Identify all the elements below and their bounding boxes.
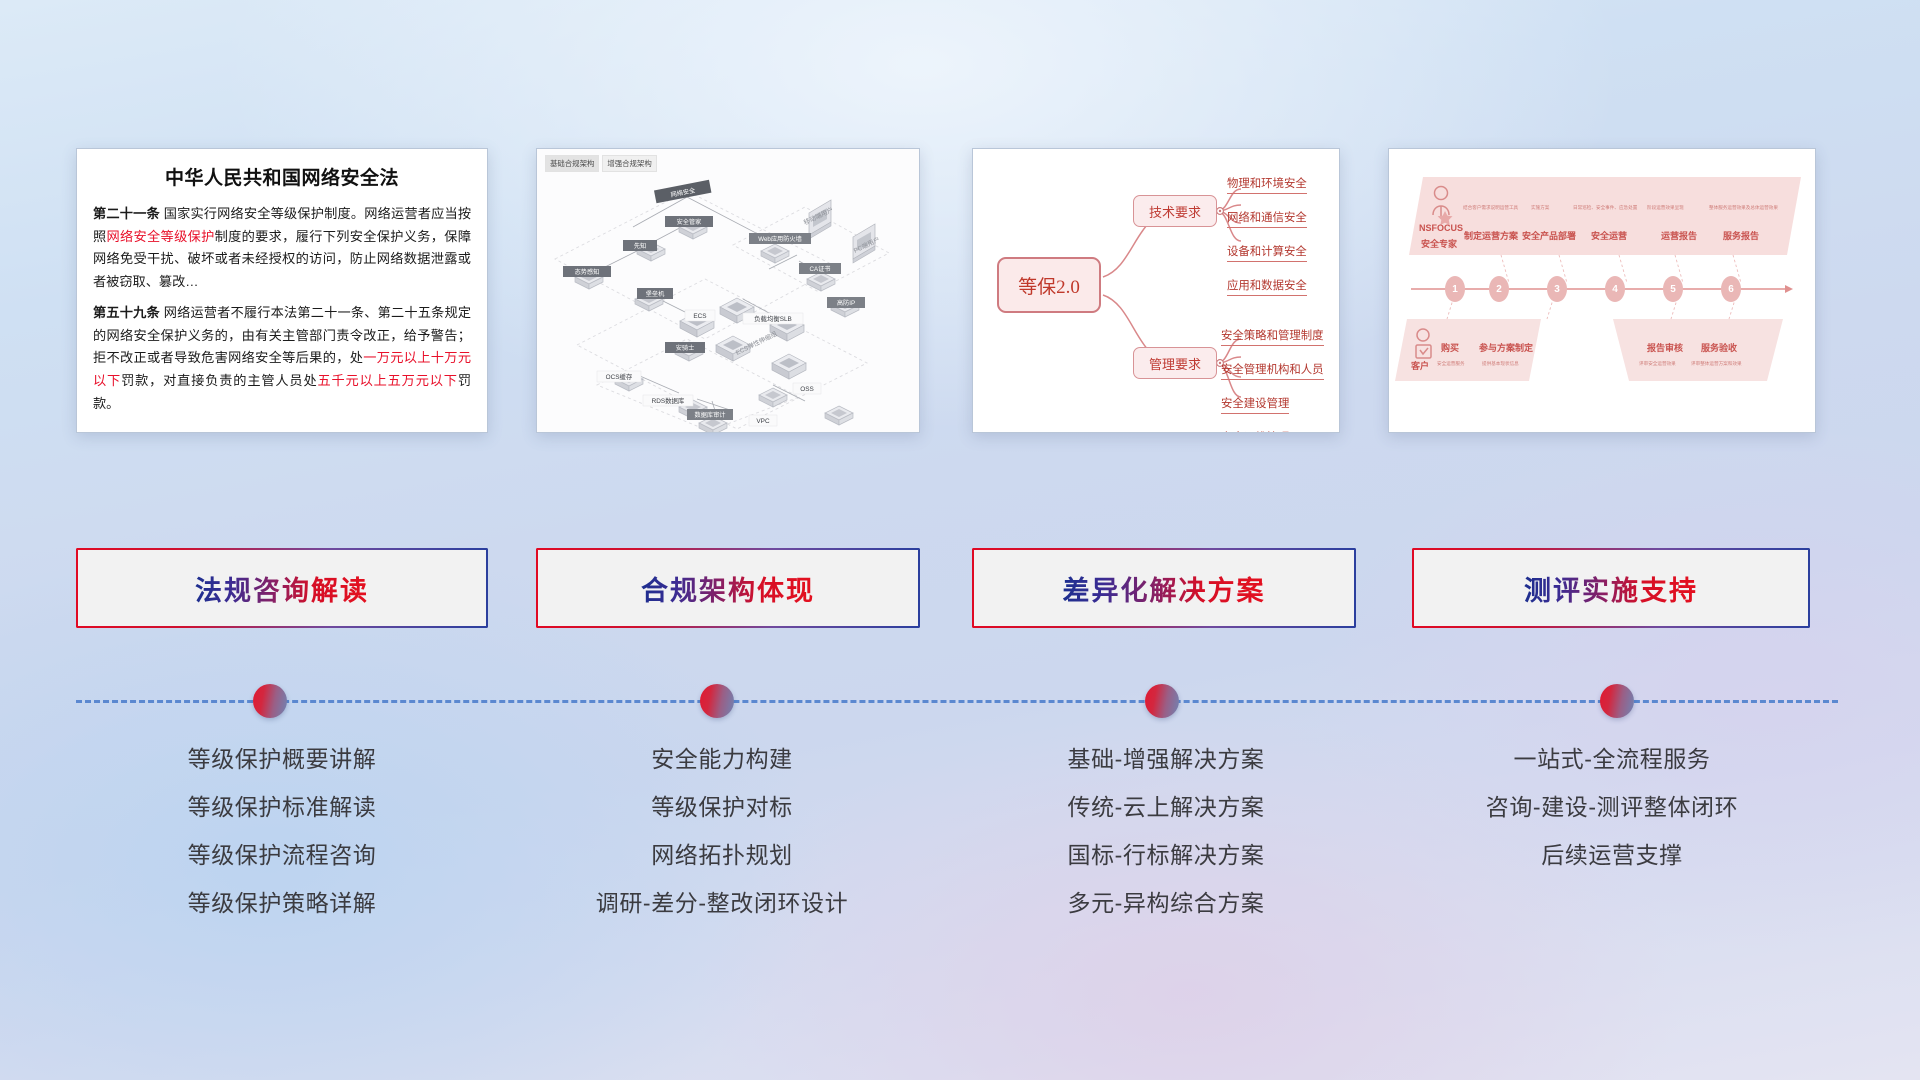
timeline-node-3[interactable]: 3 (1547, 276, 1567, 302)
mindmap-leaf-tech-0[interactable]: 物理和环境安全 (1227, 175, 1307, 194)
service-timeline: NSFOCUS 安全专家 制定运营方案 结合客户需求说明运营工具 安全产品部署 … (1389, 149, 1815, 432)
headline-label-1: 合规架构体现 (641, 569, 815, 608)
top-step-4-title[interactable]: 服务报告 (1723, 229, 1759, 242)
svg-text:数据库审计: 数据库审计 (695, 411, 726, 419)
headline-box-compliance-architecture[interactable]: 合规架构体现 (536, 548, 920, 628)
law-article-21: 第二十一条 国家实行网络安全等级保护制度。网络运营者应当按照网络安全等级保护制度… (93, 203, 471, 294)
card-cybersecurity-law[interactable]: 中华人民共和国网络安全法 第二十一条 国家实行网络安全等级保护制度。网络运营者应… (76, 148, 488, 433)
article-21-highlight: 网络安全等级保护 (107, 229, 215, 244)
top-step-2-sub: 日常巡检、安全事件、应急处置 (1573, 205, 1637, 211)
list-item: 等级保护标准解读 (76, 784, 488, 832)
timeline-node-5[interactable]: 5 (1663, 276, 1683, 302)
headline-box-assessment-support[interactable]: 测评实施支持 (1412, 548, 1810, 628)
bottom-step-0-sub: 安全运营服务 (1437, 361, 1465, 367)
timeline-marker-1[interactable] (253, 684, 287, 718)
timeline-node-6[interactable]: 6 (1721, 276, 1741, 302)
architecture-canvas: 网络安全 先知 态势感知 安全管家 堡垒机 安骑士 Web应用防火墙 (537, 149, 920, 433)
list-item: 咨询-建设-测评整体闭环 (1412, 784, 1812, 832)
timeline-marker-3[interactable] (1145, 684, 1179, 718)
article-21-label: 第二十一条 (93, 206, 160, 221)
svg-text:堡垒机: 堡垒机 (646, 290, 665, 298)
mindmap-branch-technical[interactable]: 技术要求 (1133, 195, 1217, 227)
card-compliance-architecture[interactable]: 基础合规架构 增强合规架构 (536, 148, 920, 433)
customer-role-label: 客户 (1411, 359, 1429, 372)
headline-label-2: 差异化解决方案 (1063, 569, 1266, 608)
list-item: 国标-行标解决方案 (968, 832, 1364, 880)
headline-box-regulation-consulting[interactable]: 法规咨询解读 (76, 548, 488, 628)
bottom-step-1-sub: 提供基本现状信息 (1482, 361, 1519, 367)
top-step-3-title[interactable]: 运营报告 (1661, 229, 1697, 242)
architecture-diagram: 基础合规架构 增强合规架构 (537, 149, 919, 432)
svg-text:Web应用防火墙: Web应用防火墙 (758, 235, 802, 243)
card-nsfocus-service-timeline[interactable]: NSFOCUS 安全专家 制定运营方案 结合客户需求说明运营工具 安全产品部署 … (1388, 148, 1816, 433)
mindmap: 等保2.0 技术要求 管理要求 物理和环境安全 网络和通信安全 设备和计算安全 … (973, 149, 1339, 432)
detail-column-3: 一站式-全流程服务 咨询-建设-测评整体闭环 后续运营支撑 (1412, 736, 1812, 880)
list-item: 等级保护策略详解 (76, 880, 488, 928)
slide-canvas: 中华人民共和国网络安全法 第二十一条 国家实行网络安全等级保护制度。网络运营者应… (0, 0, 1920, 1080)
mindmap-root-node[interactable]: 等保2.0 (997, 257, 1101, 313)
article-59-highlight-2: 五千元以上五万元以下 (318, 373, 458, 388)
detail-column-2: 基础-增强解决方案 传统-云上解决方案 国标-行标解决方案 多元-异构综合方案 (968, 736, 1364, 928)
mindmap-leaf-mgmt-2[interactable]: 安全建设管理 (1221, 395, 1289, 414)
headline-label-3: 测评实施支持 (1524, 569, 1698, 608)
mindmap-leaf-tech-3[interactable]: 应用和数据安全 (1227, 277, 1307, 296)
top-step-4-sub: 整体服务运营效果及总体运营效果 (1709, 205, 1778, 211)
list-item: 等级保护概要讲解 (76, 736, 488, 784)
bottom-step-1-title[interactable]: 参与方案制定 (1479, 341, 1533, 354)
mindmap-leaf-mgmt-3[interactable]: 安全运维管理 (1221, 429, 1289, 433)
detail-columns: 等级保护概要讲解 等级保护标准解读 等级保护流程咨询 等级保护策略详解 安全能力… (0, 736, 1920, 1036)
top-step-3-sub: 阶段运营效果呈现 (1647, 205, 1684, 211)
list-item: 多元-异构综合方案 (968, 880, 1364, 928)
screenshot-card-row: 中华人民共和国网络安全法 第二十一条 国家实行网络安全等级保护制度。网络运营者应… (0, 148, 1920, 448)
top-step-1-sub: 实施方案 (1531, 205, 1549, 211)
bottom-step-2-sub: 评审安全运营效果 (1639, 361, 1676, 367)
card-dengbao-mindmap[interactable]: 等保2.0 技术要求 管理要求 物理和环境安全 网络和通信安全 设备和计算安全 … (972, 148, 1340, 433)
headline-label-0: 法规咨询解读 (195, 569, 369, 608)
top-step-0-title[interactable]: 制定运营方案 (1464, 229, 1518, 242)
list-item: 传统-云上解决方案 (968, 784, 1364, 832)
timeline-node-4[interactable]: 4 (1605, 276, 1625, 302)
svg-text:VPC: VPC (756, 418, 770, 425)
svg-text:OSS: OSS (800, 386, 814, 393)
svg-text:高防IP: 高防IP (837, 299, 855, 307)
list-item: 调研-差分-整改闭环设计 (524, 880, 920, 928)
mindmap-leaf-mgmt-0[interactable]: 安全策略和管理制度 (1221, 327, 1324, 346)
timeline-marker-4[interactable] (1600, 684, 1634, 718)
mindmap-leaf-mgmt-1[interactable]: 安全管理机构和人员 (1221, 361, 1324, 380)
svg-text:负载均衡SLB: 负载均衡SLB (754, 314, 792, 323)
mindmap-branch-management[interactable]: 管理要求 (1133, 347, 1217, 379)
svg-text:OCS缓存: OCS缓存 (606, 372, 633, 381)
law-title: 中华人民共和国网络安全法 (93, 163, 471, 190)
svg-text:安骑士: 安骑士 (676, 344, 695, 352)
mindmap-leaf-tech-2[interactable]: 设备和计算安全 (1227, 243, 1307, 262)
detail-column-0: 等级保护概要讲解 等级保护标准解读 等级保护流程咨询 等级保护策略详解 (76, 736, 488, 928)
list-item: 后续运营支撑 (1412, 832, 1812, 880)
list-item: 等级保护流程咨询 (76, 832, 488, 880)
expert-brand-label: NSFOCUS (1419, 223, 1463, 233)
headline-box-differentiated-solution[interactable]: 差异化解决方案 (972, 548, 1356, 628)
article-59-label: 第五十九条 (93, 305, 160, 320)
svg-text:安全管家: 安全管家 (677, 218, 702, 226)
timeline-dashed-line (76, 700, 1838, 703)
bottom-step-2-title[interactable]: 报告审核 (1647, 341, 1683, 354)
top-step-2-title[interactable]: 安全运营 (1591, 229, 1627, 242)
top-step-1-title[interactable]: 安全产品部署 (1522, 229, 1576, 242)
list-item: 安全能力构建 (524, 736, 920, 784)
headline-row: 法规咨询解读 合规架构体现 差异化解决方案 测评实施支持 (0, 548, 1920, 636)
expert-role-label: 安全专家 (1421, 237, 1457, 250)
svg-text:CA证书: CA证书 (810, 265, 831, 273)
list-item: 基础-增强解决方案 (968, 736, 1364, 784)
detail-column-1: 安全能力构建 等级保护对标 网络拓扑规划 调研-差分-整改闭环设计 (524, 736, 920, 928)
svg-text:ECS: ECS (693, 313, 706, 320)
bottom-step-0-title[interactable]: 购买 (1441, 341, 1459, 354)
svg-text:先知: 先知 (634, 242, 646, 250)
list-item: 网络拓扑规划 (524, 832, 920, 880)
article-59-text-b: 罚款，对直接负责的主管人员处 (121, 373, 317, 388)
timeline-node-2[interactable]: 2 (1489, 276, 1509, 302)
timeline-node-1[interactable]: 1 (1445, 276, 1465, 302)
law-article-59: 第五十九条 网络运营者不履行本法第二十一条、第二十五条规定的网络安全保护义务的，… (93, 302, 471, 416)
mindmap-leaf-tech-1[interactable]: 网络和通信安全 (1227, 209, 1307, 228)
bottom-step-3-sub: 评审整体运营方案和效果 (1691, 361, 1742, 367)
svg-text:态势感知: 态势感知 (575, 268, 600, 276)
process-timeline (0, 672, 1920, 732)
law-document: 中华人民共和国网络安全法 第二十一条 国家实行网络安全等级保护制度。网络运营者应… (77, 149, 487, 425)
list-item: 一站式-全流程服务 (1412, 736, 1812, 784)
top-step-0-sub: 结合客户需求说明运营工具 (1463, 205, 1518, 211)
svg-text:RDS数据库: RDS数据库 (652, 396, 685, 405)
list-item: 等级保护对标 (524, 784, 920, 832)
bottom-step-3-title[interactable]: 服务验收 (1701, 341, 1737, 354)
timeline-marker-2[interactable] (700, 684, 734, 718)
